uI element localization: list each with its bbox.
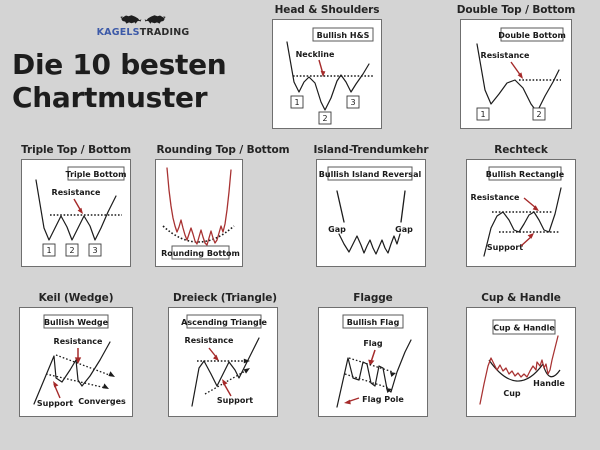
annotation-resistance: Resistance <box>471 193 521 202</box>
pattern-tag: Double Bottom <box>498 31 566 40</box>
chart-island-reversal: Bullish Island Reversal Gap Gap <box>317 160 424 265</box>
pattern-tag: Bullish Flag <box>347 318 400 327</box>
annotation-converges: Converges <box>78 397 126 406</box>
annotation-resistance: Resistance <box>481 51 531 60</box>
brand-logo: KAGELSTRADING <box>88 14 198 38</box>
bull-bear-icon <box>88 14 198 27</box>
chart-double-top-bottom: Double Bottom Resistance 1 2 <box>461 20 570 127</box>
pattern-tag: Bullish Rectangle <box>486 170 565 179</box>
annotation-resistance: Resistance <box>52 188 102 197</box>
annotation-gap-right: Gap <box>395 225 413 234</box>
pattern-card-triple-top-bottom: Triple Top / Bottom Triple Bottom Resist… <box>8 144 144 267</box>
pattern-title: Cup & Handle <box>448 292 594 304</box>
pattern-card-triangle: Dreieck (Triangle) Ascending Triangle Re… <box>152 292 298 417</box>
pattern-card-rectangle: Rechteck Bullish Rectangle Resistance Su… <box>448 144 594 267</box>
pattern-tag: Ascending Triangle <box>181 318 267 327</box>
brand-kagels-text: KAGELS <box>97 27 140 38</box>
chart-cup-and-handle: Cup & Handle Cup Handle <box>467 308 574 415</box>
annotation-support: Support <box>487 243 523 252</box>
pattern-card-rounding-top-bottom: Rounding Top / Bottom Rounding Bottom <box>148 144 298 267</box>
marker-2: 2 <box>536 110 541 119</box>
pattern-card-island-reversal: Island-Trendumkehr Bullish Island Revers… <box>298 144 444 267</box>
pattern-card-flag: Flagge Bullish Flag Flag Flag Pole <box>302 292 444 417</box>
annotation-resistance: Resistance <box>185 336 235 345</box>
marker-2: 2 <box>69 246 74 255</box>
pattern-tag: Rounding Bottom <box>161 249 240 258</box>
marker-1: 1 <box>294 98 299 107</box>
pattern-tag: Triple Bottom <box>65 170 126 179</box>
infographic-canvas: KAGELSTRADING Die 10 besten Chartmuster … <box>0 0 600 450</box>
pattern-card-wedge: Keil (Wedge) Bullish Wedge Resistance Su… <box>8 292 144 417</box>
pattern-tag: Bullish Island Reversal <box>319 170 422 179</box>
pattern-panel: Bullish H&S Neckline 1 2 3 <box>272 19 382 129</box>
chart-rounding-top-bottom: Rounding Bottom <box>156 160 241 265</box>
pattern-card-cup-and-handle: Cup & Handle Cup & Handle Cup Handle <box>448 292 594 417</box>
annotation-cup: Cup <box>503 389 521 398</box>
pattern-title: Keil (Wedge) <box>8 292 144 304</box>
marker-1: 1 <box>480 110 485 119</box>
chart-triangle: Ascending Triangle Resistance Support <box>169 308 276 415</box>
page-title-line-1: Die 10 besten <box>12 48 262 81</box>
pattern-panel: Bullish Island Reversal Gap Gap <box>316 159 426 267</box>
annotation-handle: Handle <box>533 379 565 388</box>
chart-flag: Bullish Flag Flag Flag Pole <box>319 308 426 415</box>
pattern-panel: Bullish Wedge Resistance Support Converg… <box>19 307 133 417</box>
marker-2: 2 <box>322 114 327 123</box>
pattern-title: Island-Trendumkehr <box>298 144 444 156</box>
pattern-panel: Rounding Bottom <box>155 159 243 267</box>
chart-wedge: Bullish Wedge Resistance Support Converg… <box>20 308 131 415</box>
annotation-flag: Flag <box>363 339 383 348</box>
pattern-panel: Ascending Triangle Resistance Support <box>168 307 278 417</box>
annotation-flag-pole: Flag Pole <box>362 395 404 404</box>
pattern-title: Dreieck (Triangle) <box>152 292 298 304</box>
pattern-panel: Double Bottom Resistance 1 2 <box>460 19 572 129</box>
annotation-support: Support <box>37 399 73 408</box>
pattern-tag: Bullish H&S <box>317 31 370 40</box>
pattern-title: Flagge <box>302 292 444 304</box>
annotation-gap-left: Gap <box>328 225 346 234</box>
pattern-panel: Bullish Flag Flag Flag Pole <box>318 307 428 417</box>
chart-triple-top-bottom: Triple Bottom Resistance 1 2 3 <box>22 160 129 265</box>
chart-rectangle: Bullish Rectangle Resistance Support <box>467 160 574 265</box>
marker-1: 1 <box>46 246 51 255</box>
page-title: Die 10 besten Chartmuster <box>12 48 262 114</box>
brand-trading-text: TRADING <box>140 27 190 38</box>
pattern-panel: Cup & Handle Cup Handle <box>466 307 576 417</box>
pattern-panel: Bullish Rectangle Resistance Support <box>466 159 576 267</box>
pattern-title: Triple Top / Bottom <box>8 144 144 156</box>
annotation-resistance: Resistance <box>54 337 104 346</box>
pattern-tag: Bullish Wedge <box>44 318 109 327</box>
page-title-line-2: Chartmuster <box>12 81 262 114</box>
pattern-panel: Triple Bottom Resistance 1 2 3 <box>21 159 131 267</box>
marker-3: 3 <box>92 246 97 255</box>
pattern-tag: Cup & Handle <box>493 324 555 333</box>
marker-3: 3 <box>350 98 355 107</box>
pattern-card-double-top-bottom: Double Top / Bottom Double Bottom Resist… <box>455 4 577 129</box>
chart-head-and-shoulders: Bullish H&S Neckline 1 2 3 <box>273 20 380 127</box>
brand-wordmark: KAGELSTRADING <box>88 27 198 38</box>
annotation-support: Support <box>217 396 253 405</box>
pattern-card-head-and-shoulders: Head & Shoulders Bullish H&S Neckline 1 … <box>272 4 382 129</box>
pattern-title: Double Top / Bottom <box>455 4 577 16</box>
pattern-title: Rounding Top / Bottom <box>148 144 298 156</box>
annotation-neckline: Neckline <box>296 50 335 59</box>
pattern-title: Head & Shoulders <box>272 4 382 16</box>
pattern-title: Rechteck <box>448 144 594 156</box>
